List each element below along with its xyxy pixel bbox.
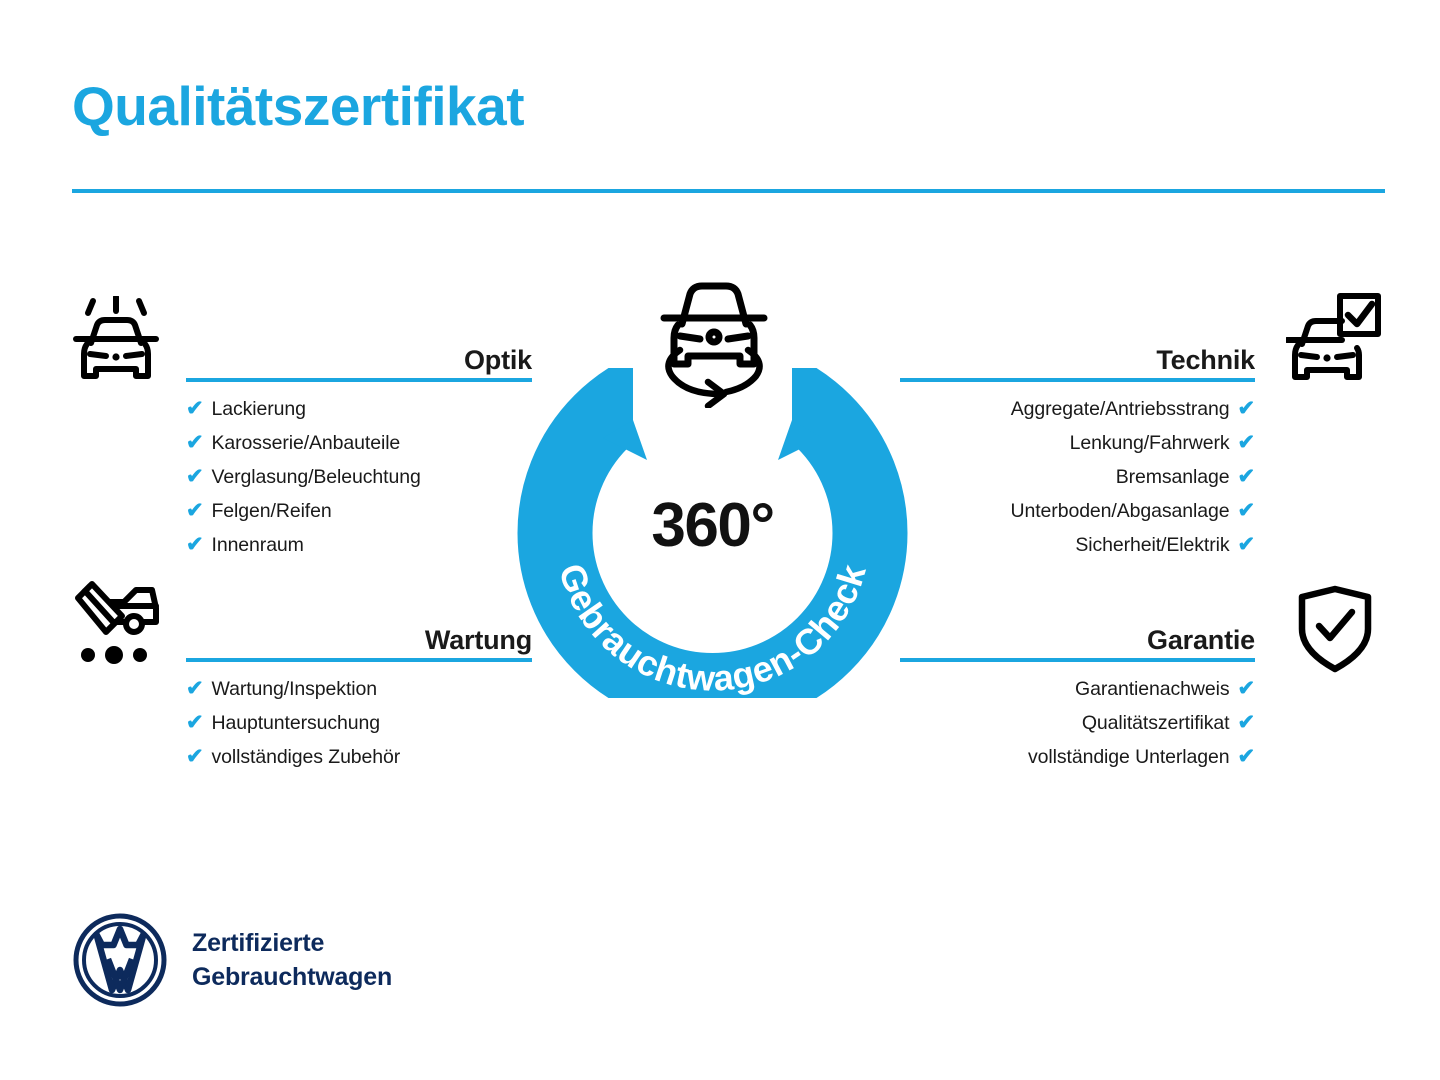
list-item: Unterboden/Abgasanlage ✔	[900, 500, 1255, 534]
check-icon: ✔	[186, 534, 204, 555]
check-icon: ✔	[1238, 534, 1256, 555]
list-item-label: Aggregate/Antriebsstrang	[1011, 398, 1230, 421]
section-wartung-list: ✔ Wartung/Inspektion ✔ Hauptuntersuchung…	[186, 678, 532, 780]
section-garantie-title: Garantie	[1147, 625, 1255, 656]
section-garantie: Garantie Garantienachweis ✔ Qualitätszer…	[900, 616, 1255, 780]
list-item: ✔ Felgen/Reifen	[186, 500, 532, 534]
list-item: Bremsanlage ✔	[900, 466, 1255, 500]
section-optik: Optik ✔ Lackierung ✔ Karosserie/Anbautei…	[186, 336, 532, 568]
section-optik-divider	[186, 378, 532, 382]
vw-logo	[72, 912, 168, 1008]
list-item-label: Garantienachweis	[1075, 678, 1230, 701]
list-item: ✔ vollständiges Zubehör	[186, 746, 532, 780]
section-wartung: Wartung ✔ Wartung/Inspektion ✔ Hauptunte…	[186, 616, 532, 780]
service-pen-car-icon	[66, 580, 166, 675]
section-technik-divider	[900, 378, 1255, 382]
section-wartung-header: Wartung	[186, 616, 532, 662]
check-icon: ✔	[1238, 432, 1256, 453]
list-item-label: Lackierung	[212, 398, 306, 421]
list-item-label: vollständiges Zubehör	[212, 746, 401, 769]
list-item-label: vollständige Unterlagen	[1028, 746, 1230, 769]
check-icon: ✔	[186, 466, 204, 487]
section-optik-list: ✔ Lackierung ✔ Karosserie/Anbauteile ✔ V…	[186, 398, 532, 568]
section-garantie-header: Garantie	[900, 616, 1255, 662]
check-icon: ✔	[186, 712, 204, 733]
vw-certified-logo: Zertifizierte Gebrauchtwagen	[72, 912, 392, 1008]
list-item: Aggregate/Antriebsstrang ✔	[900, 398, 1255, 432]
badge-value: 360°	[515, 490, 910, 561]
check-icon: ✔	[186, 500, 204, 521]
section-technik-header: Technik	[900, 336, 1255, 382]
check-icon: ✔	[1238, 500, 1256, 521]
check-icon: ✔	[1238, 466, 1256, 487]
section-garantie-list: Garantienachweis ✔ Qualitätszertifikat ✔…	[900, 678, 1255, 780]
check-icon: ✔	[186, 432, 204, 453]
list-item: Sicherheit/Elektrik ✔	[900, 534, 1255, 568]
check-icon: ✔	[186, 398, 204, 419]
section-technik-list: Aggregate/Antriebsstrang ✔ Lenkung/Fahrw…	[900, 398, 1255, 568]
list-item: ✔ Lackierung	[186, 398, 532, 432]
list-item: ✔ Karosserie/Anbauteile	[186, 432, 532, 466]
list-item: Garantienachweis ✔	[900, 678, 1255, 712]
list-item: ✔ Wartung/Inspektion	[186, 678, 532, 712]
shield-check-icon	[1296, 585, 1374, 678]
list-item-label: Verglasung/Beleuchtung	[212, 466, 421, 489]
list-item: ✔ Innenraum	[186, 534, 532, 568]
footer-logo-text: Zertifizierte Gebrauchtwagen	[192, 926, 392, 994]
car-rotation-icon	[650, 278, 778, 408]
list-item: Qualitätszertifikat ✔	[900, 712, 1255, 746]
section-optik-header: Optik	[186, 336, 532, 382]
list-item-label: Karosserie/Anbauteile	[212, 432, 401, 455]
page-title: Qualitätszertifikat	[72, 78, 524, 136]
footer-logo-line1: Zertifizierte	[192, 926, 392, 960]
list-item-label: Wartung/Inspektion	[212, 678, 377, 701]
check-icon: ✔	[1238, 746, 1256, 767]
header-divider	[72, 189, 1385, 193]
footer-logo-line2: Gebrauchtwagen	[192, 960, 392, 994]
list-item: ✔ Verglasung/Beleuchtung	[186, 466, 532, 500]
list-item: ✔ Hauptuntersuchung	[186, 712, 532, 746]
section-wartung-divider	[186, 658, 532, 662]
list-item-label: Lenkung/Fahrwerk	[1070, 432, 1230, 455]
certificate-page: Qualitätszertifikat	[0, 0, 1440, 1080]
section-technik-title: Technik	[1156, 345, 1255, 376]
list-item: Lenkung/Fahrwerk ✔	[900, 432, 1255, 466]
list-item-label: Felgen/Reifen	[212, 500, 332, 523]
check-icon: ✔	[186, 678, 204, 699]
check-icon: ✔	[186, 746, 204, 767]
gebrauchtwagen-check-badge: Gebrauchtwagen-Check 360°	[515, 278, 910, 698]
section-technik: Technik Aggregate/Antriebsstrang ✔ Lenku…	[900, 336, 1255, 568]
list-item-label: Innenraum	[212, 534, 304, 557]
section-garantie-divider	[900, 658, 1255, 662]
car-shine-icon	[66, 296, 166, 391]
list-item-label: Qualitätszertifikat	[1082, 712, 1230, 735]
list-item-label: Bremsanlage	[1116, 466, 1230, 489]
check-icon: ✔	[1238, 712, 1256, 733]
car-checkbox-icon	[1286, 292, 1382, 392]
list-item-label: Sicherheit/Elektrik	[1075, 534, 1229, 557]
check-icon: ✔	[1238, 398, 1256, 419]
list-item: vollständige Unterlagen ✔	[900, 746, 1255, 780]
list-item-label: Hauptuntersuchung	[212, 712, 381, 735]
list-item-label: Unterboden/Abgasanlage	[1011, 500, 1230, 523]
check-icon: ✔	[1238, 678, 1256, 699]
